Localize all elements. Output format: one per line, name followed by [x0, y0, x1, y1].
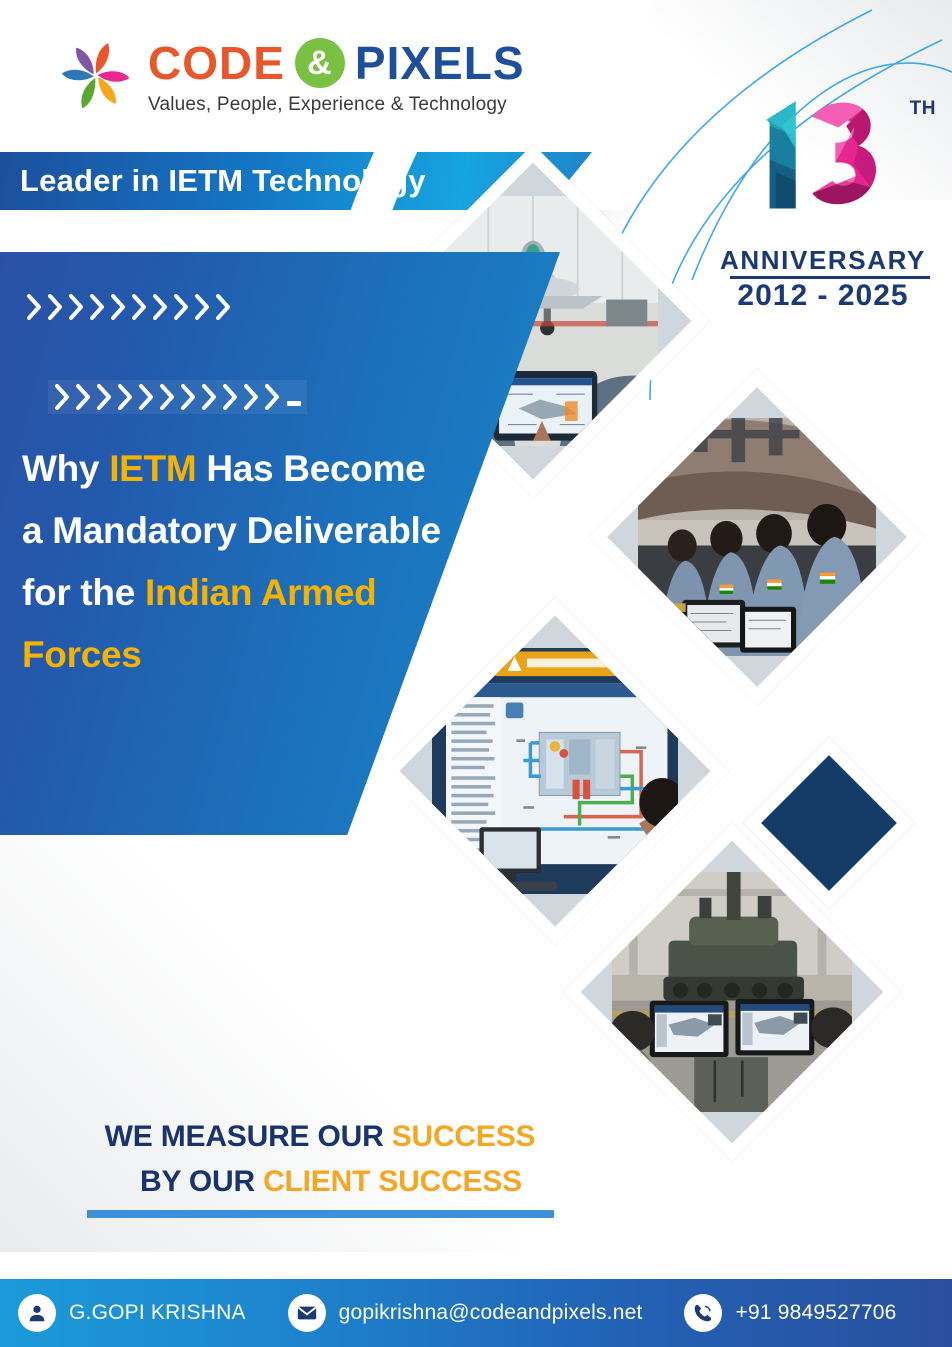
- chevron-icon: [68, 294, 85, 320]
- photo-army-scene: [612, 872, 852, 1112]
- chevron-icon: [159, 384, 176, 410]
- chevron-icon: [243, 384, 260, 410]
- poster-root: CODE & PIXELS Values, People, Experience…: [0, 0, 952, 1347]
- tagline-line2-dark: BY OUR: [140, 1165, 263, 1198]
- chevron-icon: [75, 384, 92, 410]
- chevron-icon: [110, 294, 127, 320]
- logo-wordmark: CODE & PIXELS Values, People, Experience…: [148, 32, 525, 116]
- photo-schematic-scene: [432, 648, 678, 894]
- tagline-line1-orange: SUCCESS: [392, 1120, 536, 1153]
- logo-word-code: CODE: [148, 40, 285, 86]
- logo-word-pixels: PIXELS: [355, 40, 525, 86]
- contact-phone[interactable]: +91 9849527706: [684, 1294, 896, 1332]
- chevron-icon: [222, 384, 239, 410]
- chevron-icon: [117, 384, 134, 410]
- contact-email-address: gopikrishna@codeandpixels.net: [339, 1301, 643, 1325]
- headline-part-1: IETM: [109, 448, 196, 489]
- contact-phone-number: +91 9849527706: [735, 1301, 896, 1325]
- chevron-icon: [47, 294, 64, 320]
- page-title: Why IETM Has Become a Mandatory Delivera…: [22, 438, 452, 687]
- person-icon: [18, 1294, 56, 1332]
- tagline-line-1: WE MEASURE OUR SUCCESS: [70, 1114, 570, 1159]
- phone-icon: [684, 1294, 722, 1332]
- pinwheel-logo-icon: [58, 36, 134, 114]
- tagline-line-2: BY OUR CLIENT SUCCESS: [70, 1159, 570, 1204]
- photo-navy-scene: [638, 418, 876, 656]
- chevron-icon: [180, 384, 197, 410]
- chevron-icon: [138, 384, 155, 410]
- contact-email[interactable]: gopikrishna@codeandpixels.net: [288, 1294, 643, 1332]
- tagline-line2-orange: CLIENT SUCCESS: [263, 1165, 522, 1198]
- chevron-icon: [89, 294, 106, 320]
- chevron-row-top: [26, 294, 232, 320]
- chevron-icon: [26, 294, 43, 320]
- contact-person-name: G.GOPI KRISHNA: [69, 1301, 246, 1325]
- chevron-icon: [131, 294, 148, 320]
- chevron-icon: [264, 384, 281, 410]
- chevron-icon: [152, 294, 169, 320]
- contact-person[interactable]: G.GOPI KRISHNA: [18, 1294, 246, 1332]
- contact-footer: G.GOPI KRISHNA gopikrishna@codeandpixels…: [0, 1279, 952, 1347]
- success-tagline: WE MEASURE OUR SUCCESS BY OUR CLIENT SUC…: [70, 1114, 570, 1218]
- chevron-trailing-dash: [287, 401, 301, 406]
- chevron-icon: [54, 384, 71, 410]
- photo-navy-personnel-tablets: [589, 369, 926, 706]
- chevron-icon: [194, 294, 211, 320]
- chevron-icon: [201, 384, 218, 410]
- chevron-icon: [215, 294, 232, 320]
- company-logo[interactable]: CODE & PIXELS Values, People, Experience…: [58, 32, 525, 116]
- headline-part-0: Why: [22, 448, 109, 489]
- logo-ampersand-badge: &: [295, 38, 345, 88]
- chevron-icon: [173, 294, 190, 320]
- envelope-icon: [288, 1294, 326, 1332]
- logo-tagline: Values, People, Experience & Technology: [148, 94, 525, 116]
- anniversary-ordinal: TH: [910, 98, 936, 120]
- chevron-row-bottom: [48, 380, 307, 414]
- tagline-line1-dark: WE MEASURE OUR: [105, 1120, 392, 1153]
- tagline-underline: [87, 1210, 554, 1218]
- chevron-icon: [96, 384, 113, 410]
